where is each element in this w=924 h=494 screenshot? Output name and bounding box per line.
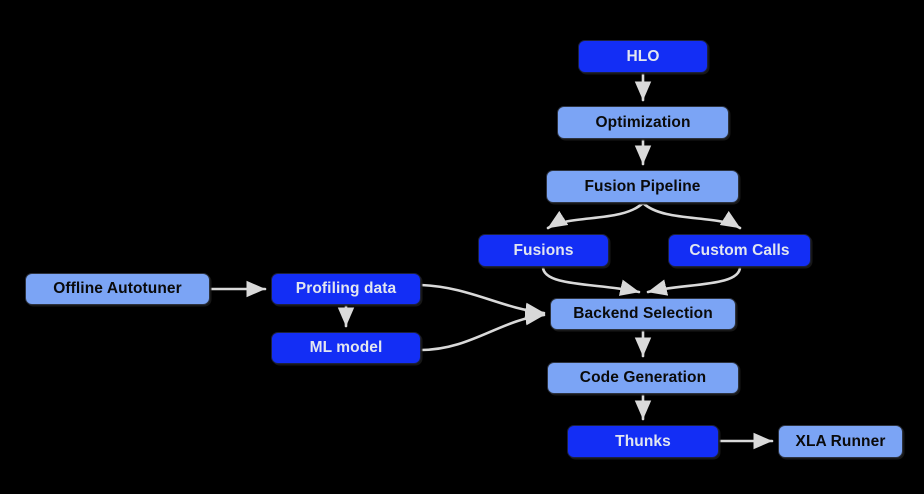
edge-fusion-pipeline-to-custom-calls [643,203,740,228]
node-fusions[interactable]: Fusions [478,234,609,267]
node-fusion_pipeline[interactable]: Fusion Pipeline [546,170,739,203]
node-profiling_data[interactable]: Profiling data [271,273,421,305]
node-label-optimization: Optimization [595,115,690,131]
node-offline_autotuner[interactable]: Offline Autotuner [25,273,210,305]
node-code_generation[interactable]: Code Generation [547,362,739,394]
node-label-fusions: Fusions [513,243,573,259]
node-thunks[interactable]: Thunks [567,425,719,458]
diagram-canvas: HLOOptimizationFusion PipelineFusionsCus… [0,0,924,494]
node-custom_calls[interactable]: Custom Calls [668,234,811,267]
node-label-fusion_pipeline: Fusion Pipeline [584,179,700,195]
node-label-code_generation: Code Generation [580,370,706,386]
node-label-xla_runner: XLA Runner [796,434,886,450]
node-label-ml_model: ML model [310,340,383,356]
node-label-custom_calls: Custom Calls [689,243,789,259]
node-xla_runner[interactable]: XLA Runner [778,425,903,458]
edge-fusion-pipeline-to-fusions [548,203,643,228]
edge-ml-model-to-backend-selection [421,315,544,350]
node-ml_model[interactable]: ML model [271,332,421,364]
node-hlo[interactable]: HLO [578,40,708,73]
node-optimization[interactable]: Optimization [557,106,729,139]
node-label-profiling_data: Profiling data [296,281,396,297]
edge-profiling-to-backend-selection [421,285,544,313]
node-label-thunks: Thunks [615,434,671,450]
node-label-hlo: HLO [626,49,659,65]
node-backend_selection[interactable]: Backend Selection [550,298,736,330]
edge-custom-calls-to-backend-selection [648,267,740,292]
edge-fusions-to-backend-selection [543,267,639,292]
node-label-backend_selection: Backend Selection [573,306,713,322]
node-label-offline_autotuner: Offline Autotuner [53,281,182,297]
